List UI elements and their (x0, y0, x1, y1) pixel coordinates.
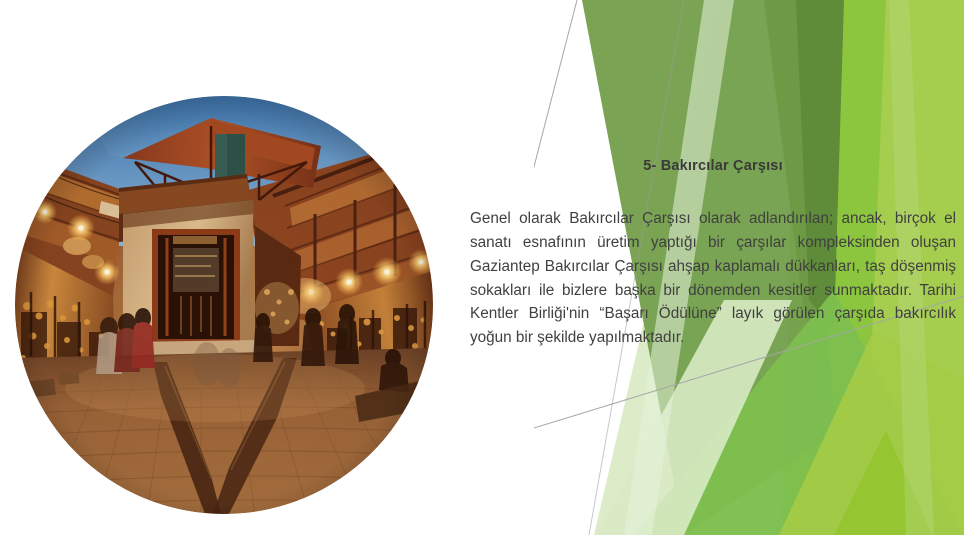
page-title: 5- Bakırcılar Çarşısı (470, 158, 956, 175)
decor-shape-bright-lower (834, 430, 932, 535)
decor-shape-lime-lower (779, 330, 964, 535)
bakircilar-carsisi-photo (15, 96, 433, 514)
slide-canvas: 5- Bakırcılar Çarşısı Genel olarak Bakır… (0, 0, 964, 535)
photo-circle-mask (15, 96, 433, 514)
text-column: 5- Bakırcılar Çarşısı Genel olarak Bakır… (470, 158, 956, 350)
body-paragraph: Genel olarak Bakırcılar Çarşısı olarak a… (470, 207, 956, 349)
